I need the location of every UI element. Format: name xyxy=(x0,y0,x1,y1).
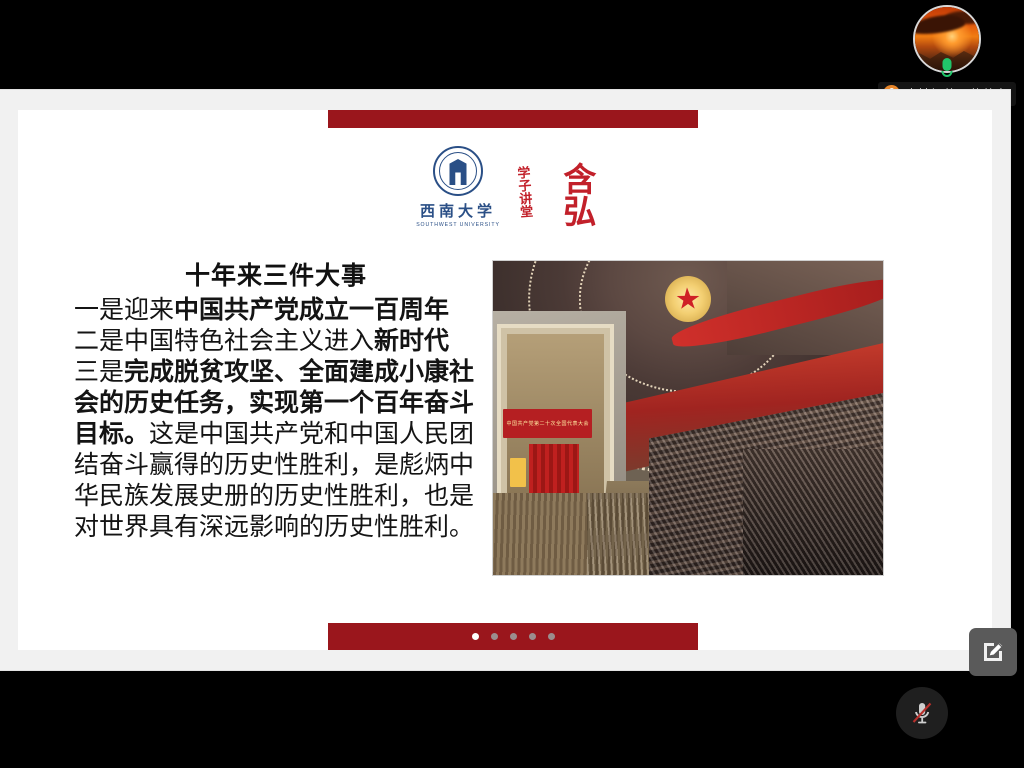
pagination-dot[interactable] xyxy=(548,633,555,640)
presenter-badge: 李婧妍的屏幕共享 xyxy=(870,0,1024,104)
pagination-dot[interactable] xyxy=(491,633,498,640)
body-line-2: 二是中国特色社会主义进入新时代 xyxy=(74,325,478,356)
avatar[interactable] xyxy=(913,5,981,73)
body-line-1: 一是迎来中国共产党成立一百周年 xyxy=(74,294,478,325)
pagination-dot[interactable] xyxy=(529,633,536,640)
slide-title: 十年来三件大事 xyxy=(74,260,478,292)
university-name-cn: 西南大学 xyxy=(420,200,496,221)
slide-top-accent-bar xyxy=(328,110,698,128)
slide-content: 十年来三件大事 一是迎来中国共产党成立一百周年 二是中国特色社会主义进入新时代 … xyxy=(18,260,992,600)
microphone-toggle-button[interactable] xyxy=(896,687,948,739)
swu-logo: 西南大学 SOUTHWEST UNIVERSITY xyxy=(416,146,500,228)
body-line-3: 三是完成脱贫攻坚、全面建成小康社会的历史任务，实现第一个百年奋斗目标。这是中国共… xyxy=(74,356,478,542)
congress-banner-text: 中国共产党第二十次全国代表大会 xyxy=(503,409,592,438)
pagination-dot[interactable] xyxy=(472,633,479,640)
pagination-dot[interactable] xyxy=(510,633,517,640)
calligraphy-small-text: 学子讲堂 xyxy=(514,166,532,225)
slide-text-column: 十年来三件大事 一是迎来中国共产党成立一百周年 二是中国特色社会主义进入新时代 … xyxy=(18,260,488,542)
microphone-active-icon xyxy=(939,58,956,78)
slide-body-text: 一是迎来中国共产党成立一百周年 二是中国特色社会主义进入新时代 三是完成脱贫攻坚… xyxy=(74,294,478,542)
slide-pagination-bar xyxy=(328,623,698,650)
microphone-muted-icon xyxy=(907,698,937,728)
lecture-series-calligraphy: 学子讲堂 含弘 xyxy=(516,162,594,228)
shared-screen-frame: 西南大学 SOUTHWEST UNIVERSITY 学子讲堂 含弘 十年来三件大… xyxy=(0,90,1010,670)
university-name-en: SOUTHWEST UNIVERSITY xyxy=(416,222,500,228)
congress-hall-photo: 中国共产党第二十次全国代表大会 xyxy=(492,260,884,576)
presentation-slide: 西南大学 SOUTHWEST UNIVERSITY 学子讲堂 含弘 十年来三件大… xyxy=(18,110,992,650)
screen-share-view: 李婧妍的屏幕共享 西南大学 SOUTHWEST UNIVERSITY 学子讲堂 … xyxy=(0,0,1024,768)
pen-annotate-icon xyxy=(980,639,1006,665)
swu-crest-icon xyxy=(433,146,483,196)
annotate-button[interactable] xyxy=(969,628,1017,676)
slide-branding: 西南大学 SOUTHWEST UNIVERSITY 学子讲堂 含弘 xyxy=(18,146,992,228)
slide-image-column: 中国共产党第二十次全国代表大会 xyxy=(492,260,884,576)
calligraphy-large-text: 含弘 xyxy=(561,162,594,226)
